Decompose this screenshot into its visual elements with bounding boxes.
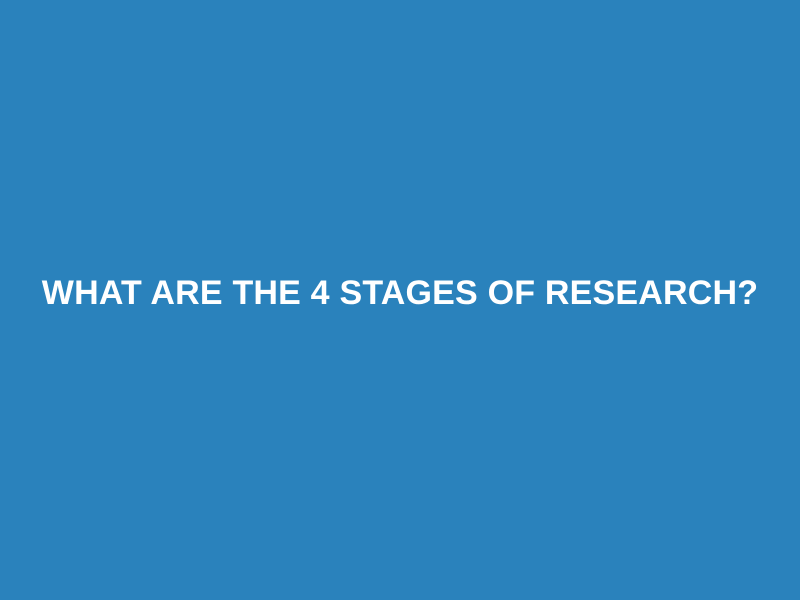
banner-background: WHAT ARE THE 4 STAGES OF RESEARCH? — [0, 0, 800, 600]
page-title: WHAT ARE THE 4 STAGES OF RESEARCH? — [0, 281, 800, 305]
